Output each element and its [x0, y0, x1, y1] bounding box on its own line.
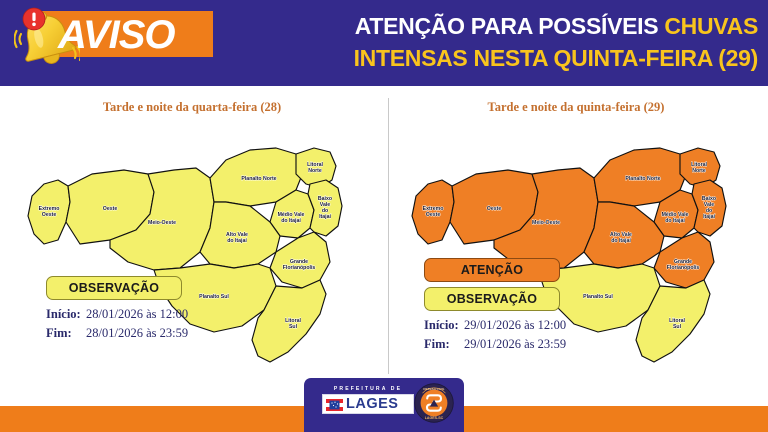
svg-text:Sul: Sul [289, 324, 298, 330]
fim-value: 28/01/2026 às 23:59 [86, 326, 188, 340]
svg-text:do Itajaí: do Itajaí [665, 218, 685, 224]
infographic-root: AVISO ATENÇÃO PARA POSSÍVEIS CHUVAS INTE… [0, 0, 768, 432]
date-row-fim: Fim:29/01/2026 às 23:59 [424, 335, 566, 354]
santa-catarina-flag-icon [326, 398, 343, 410]
defesa-civil-seal-icon: DEFESA CIVIL LAGES-SC [414, 383, 454, 423]
legend-badge-observacao: OBSERVAÇÃO [46, 276, 182, 300]
svg-text:Planalto Sul: Planalto Sul [199, 294, 229, 300]
svg-text:do Itajaí: do Itajaí [227, 238, 247, 244]
date-row-inicio: Início:29/01/2026 às 12:00 [424, 316, 566, 335]
panel-wednesday-title: Tarde e noite da quarta-feira (28) [0, 100, 384, 115]
prefeitura-word: PREFEITURA DE [322, 386, 414, 392]
svg-text:Itajaí: Itajaí [703, 214, 715, 220]
svg-text:Norte: Norte [692, 168, 706, 174]
dates-wednesday: Início:28/01/2026 às 12:00 Fim:28/01/202… [46, 305, 188, 343]
svg-text:DEFESA CIVIL: DEFESA CIVIL [423, 387, 444, 391]
svg-text:Oeste: Oeste [426, 212, 441, 218]
svg-text:Meio-Oeste: Meio-Oeste [532, 220, 560, 226]
fim-label: Fim: [46, 324, 86, 343]
svg-text:Norte: Norte [308, 168, 322, 174]
panel-thursday: Tarde e noite da quinta-feira (29) [384, 86, 768, 386]
panel-thursday-title: Tarde e noite da quinta-feira (29) [384, 100, 768, 115]
inicio-value: 28/01/2026 às 12:00 [86, 307, 188, 321]
fim-label: Fim: [424, 335, 464, 354]
panels-area: Tarde e noite da quarta-feira (28) [0, 86, 768, 386]
legend-badge-observacao: OBSERVAÇÃO [424, 287, 560, 311]
svg-text:Florianópolis: Florianópolis [667, 265, 700, 271]
headline: ATENÇÃO PARA POSSÍVEIS CHUVAS INTENSAS N… [258, 10, 758, 76]
prefeitura-namebox: LAGES [322, 394, 414, 414]
svg-text:LAGES-SC: LAGES-SC [425, 416, 444, 420]
svg-text:Meio-Oeste: Meio-Oeste [148, 220, 176, 226]
exclamation-circle-icon [23, 8, 45, 30]
svg-text:Itajaí: Itajaí [319, 214, 331, 220]
headline-line-1-yellow: CHUVAS [664, 13, 758, 39]
aviso-label: AVISO [58, 13, 218, 57]
fim-value: 29/01/2026 às 23:59 [464, 337, 566, 351]
dates-thursday: Início:29/01/2026 às 12:00 Fim:29/01/202… [424, 316, 566, 354]
svg-text:Oeste: Oeste [487, 206, 502, 212]
panel-wednesday: Tarde e noite da quarta-feira (28) [0, 86, 384, 386]
inicio-value: 29/01/2026 às 12:00 [464, 318, 566, 332]
inicio-label: Início: [424, 316, 464, 335]
svg-text:do Itajaí: do Itajaí [281, 218, 301, 224]
legend-thursday: ATENÇÃO OBSERVAÇÃO Início:29/01/2026 às … [424, 258, 566, 354]
header-banner: AVISO ATENÇÃO PARA POSSÍVEIS CHUVAS INTE… [0, 0, 768, 86]
footer-logo-box: PREFEITURA DE LAGES [304, 378, 464, 432]
svg-text:do Itajaí: do Itajaí [611, 238, 631, 244]
svg-text:Planalto Sul: Planalto Sul [583, 294, 613, 300]
date-row-inicio: Início:28/01/2026 às 12:00 [46, 305, 188, 324]
svg-text:Oeste: Oeste [42, 212, 57, 218]
legend-wednesday: OBSERVAÇÃO Início:28/01/2026 às 12:00 Fi… [46, 276, 188, 343]
svg-text:Planalto Norte: Planalto Norte [625, 176, 660, 182]
prefeitura-lages-logo: PREFEITURA DE LAGES [322, 386, 414, 420]
headline-line-1-white: ATENÇÃO PARA POSSÍVEIS [355, 13, 665, 39]
date-row-fim: Fim:28/01/2026 às 23:59 [46, 324, 188, 343]
svg-text:Florianópolis: Florianópolis [283, 265, 316, 271]
headline-line-2: INTENSAS NESTA QUINTA-FEIRA (29) [258, 42, 758, 74]
legend-badge-atencao: ATENÇÃO [424, 258, 560, 282]
svg-text:Sul: Sul [673, 324, 682, 330]
svg-text:Planalto Norte: Planalto Norte [241, 176, 276, 182]
inicio-label: Início: [46, 305, 86, 324]
prefeitura-name: LAGES [346, 395, 398, 413]
headline-line-1: ATENÇÃO PARA POSSÍVEIS CHUVAS [258, 10, 758, 42]
svg-text:Oeste: Oeste [103, 206, 118, 212]
